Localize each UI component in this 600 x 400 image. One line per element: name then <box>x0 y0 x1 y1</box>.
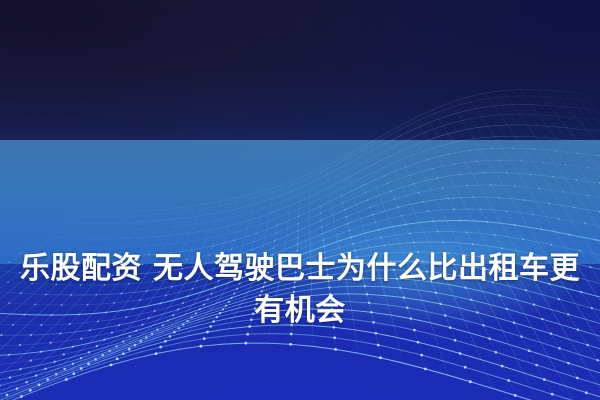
article-banner: 乐股配资 无人驾驶巴士为什么比出租车更有机会 ？四大关键揭秘 <box>0 0 600 400</box>
headline-line-1: 乐股配资 无人驾驶巴士为什么比出租车更有机会 <box>18 248 582 332</box>
banner-headline: 乐股配资 无人驾驶巴士为什么比出租车更有机会 ？四大关键揭秘 <box>0 164 600 400</box>
